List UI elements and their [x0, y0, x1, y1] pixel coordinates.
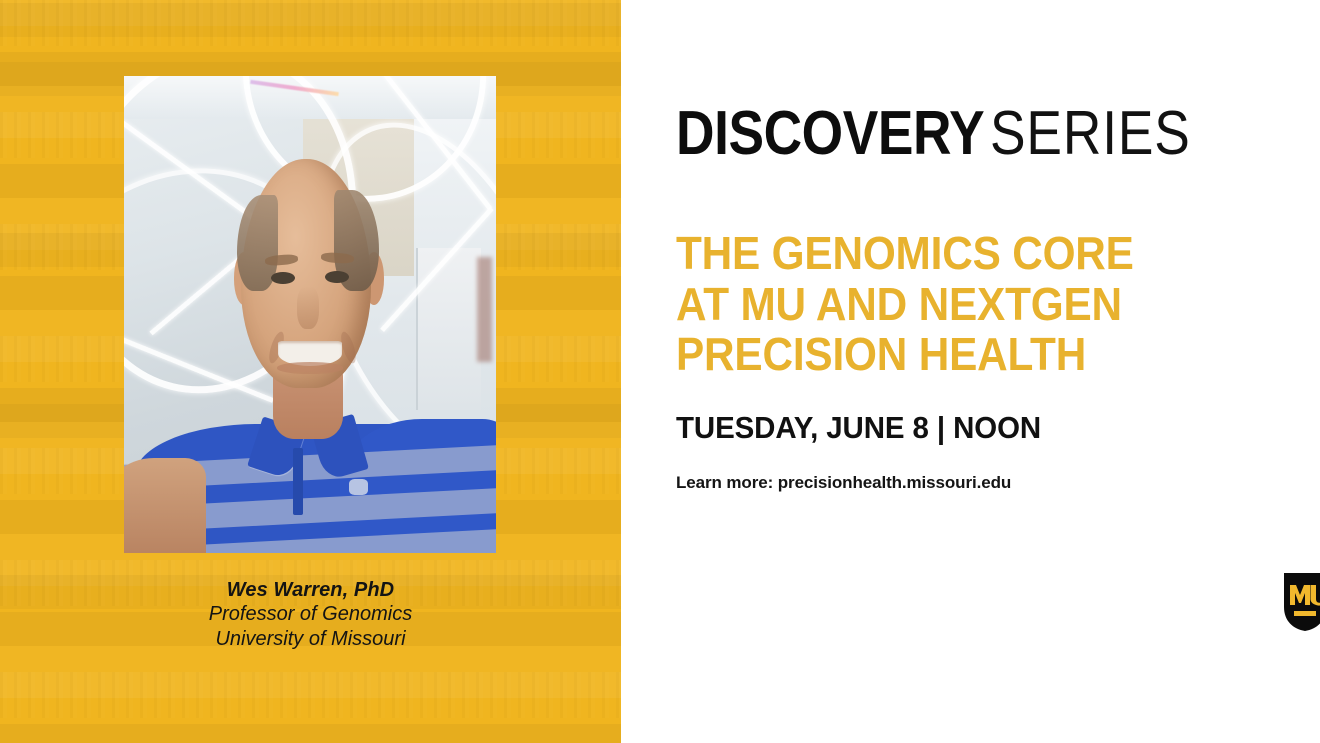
event-datetime: TUESDAY, JUNE 8 | NOON [676, 410, 1041, 446]
speaker-organization: University of Missouri [0, 627, 621, 651]
photo-eye-left [271, 272, 295, 284]
partner-logo-row: UMKC M ISSOURI S & T UMSL [1281, 558, 1320, 646]
discovery-series-heading: DISCOVERYSERIES [676, 98, 1224, 169]
mu-shield-icon [1281, 571, 1320, 633]
content-panel: DISCOVERYSERIES THE GENOMICS CORE AT MU … [621, 0, 1320, 743]
speaker-photo-scene [124, 76, 496, 553]
photo-shirt-logo [349, 479, 368, 495]
mu-logo[interactable] [1281, 571, 1320, 633]
event-title-line-1: THE GENOMICS CORE [676, 228, 1246, 279]
photo-left-arm [124, 458, 206, 553]
series-word-discovery: DISCOVERY [676, 98, 984, 169]
speaker-role: Professor of Genomics [0, 602, 621, 626]
event-poster: Wes Warren, PhD Professor of Genomics Un… [0, 0, 1320, 743]
event-title-line-2: AT MU AND NEXTGEN [676, 279, 1246, 330]
gold-background-panel: Wes Warren, PhD Professor of Genomics Un… [0, 0, 621, 743]
photo-person [124, 76, 496, 553]
photo-shirt-placket [293, 448, 302, 515]
speaker-caption: Wes Warren, PhD Professor of Genomics Un… [0, 578, 621, 651]
event-learn-more: Learn more: precisionhealth.missouri.edu [676, 473, 1011, 493]
photo-chin [277, 372, 344, 396]
speaker-name: Wes Warren, PhD [0, 578, 621, 602]
speaker-photo [124, 76, 496, 553]
photo-nose [297, 286, 319, 329]
event-title: THE GENOMICS CORE AT MU AND NEXTGEN PREC… [676, 228, 1296, 380]
series-word-series: SERIES [990, 98, 1191, 169]
event-title-line-3: PRECISION HEALTH [676, 329, 1246, 380]
photo-eye-right [325, 271, 349, 283]
